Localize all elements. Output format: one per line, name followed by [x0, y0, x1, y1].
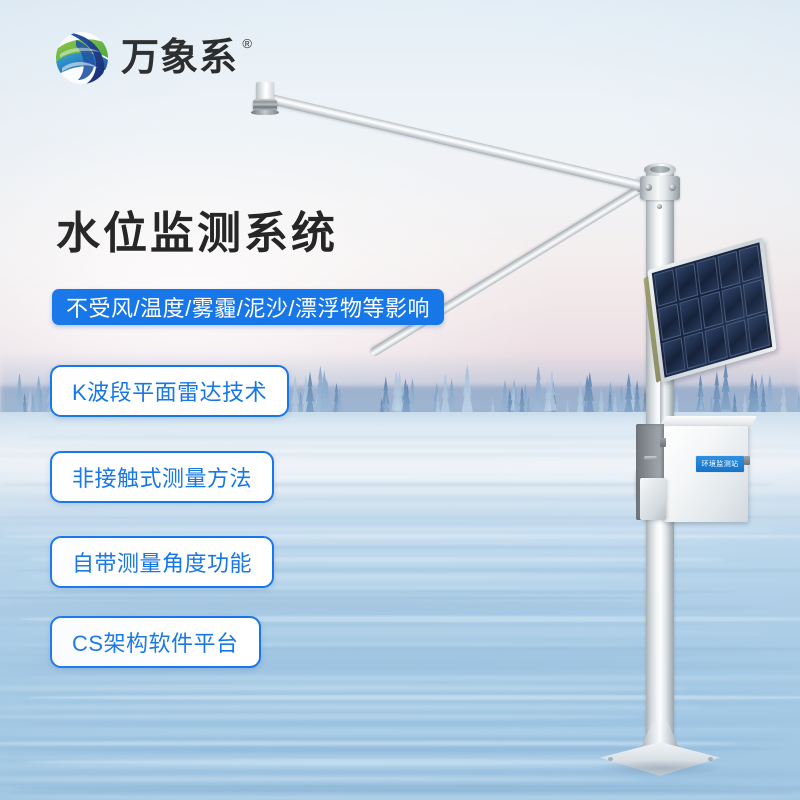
brand-logo[interactable]: 万象系 ® — [52, 28, 238, 88]
solar-cell-grid — [652, 242, 772, 377]
subtitle-banner: 不受风/温度/雾霾/泥沙/漂浮物等影响 — [52, 289, 444, 325]
solar-cell — [658, 303, 682, 341]
pole-cap-inner — [650, 166, 670, 173]
cabinet-badge: 环境监测站 — [696, 456, 744, 472]
solar-cell — [738, 244, 762, 282]
cabinet-battery-box — [640, 478, 666, 520]
instrument-cabinet: 环境监测站 — [636, 416, 750, 526]
radar-antenna-rim — [251, 110, 279, 115]
feature-item-1[interactable]: K波段平面雷达技术 — [50, 365, 289, 417]
solar-cell — [700, 291, 724, 329]
cabinet-front-door: 环境监测站 — [664, 426, 748, 522]
brand-name-wrap: 万象系 ® — [121, 39, 238, 77]
brand-name: 万象系 — [121, 37, 238, 79]
solar-cell — [683, 331, 707, 369]
globe-swirl-logo-icon — [52, 28, 112, 88]
solar-cell — [696, 257, 720, 295]
solar-cell — [717, 250, 741, 288]
poster-canvas: 环境监测站 — [0, 0, 800, 800]
solar-cell — [653, 269, 677, 307]
solar-cell — [662, 337, 686, 375]
rig-shadow — [598, 760, 726, 776]
solar-cell — [721, 285, 745, 323]
solar-cell — [743, 279, 767, 317]
bolt-icon — [669, 184, 676, 191]
cantilever-boom-arm — [261, 92, 649, 192]
feature-item-4[interactable]: CS架构软件平台 — [50, 616, 261, 668]
feature-item-2[interactable]: 非接触式测量方法 — [50, 451, 274, 503]
cabinet-vent-icon — [644, 456, 657, 460]
anchor-hole-icon — [608, 757, 613, 761]
diagonal-support-strut — [369, 183, 647, 358]
solar-cell — [679, 297, 703, 335]
registered-mark: ® — [242, 37, 253, 50]
anchor-hole-icon — [708, 757, 713, 761]
solar-cell — [726, 319, 750, 357]
solar-cell — [704, 325, 728, 363]
solar-cell — [675, 263, 699, 301]
page-title: 水位监测系统 — [56, 212, 338, 256]
bolt-icon — [657, 204, 662, 209]
bolt-icon — [645, 184, 652, 191]
cabinet-latch-icon — [744, 456, 750, 465]
solar-cell — [747, 313, 771, 351]
cabinet-hinge-icon — [660, 438, 666, 447]
feature-item-3[interactable]: 自带测量角度功能 — [50, 536, 274, 588]
